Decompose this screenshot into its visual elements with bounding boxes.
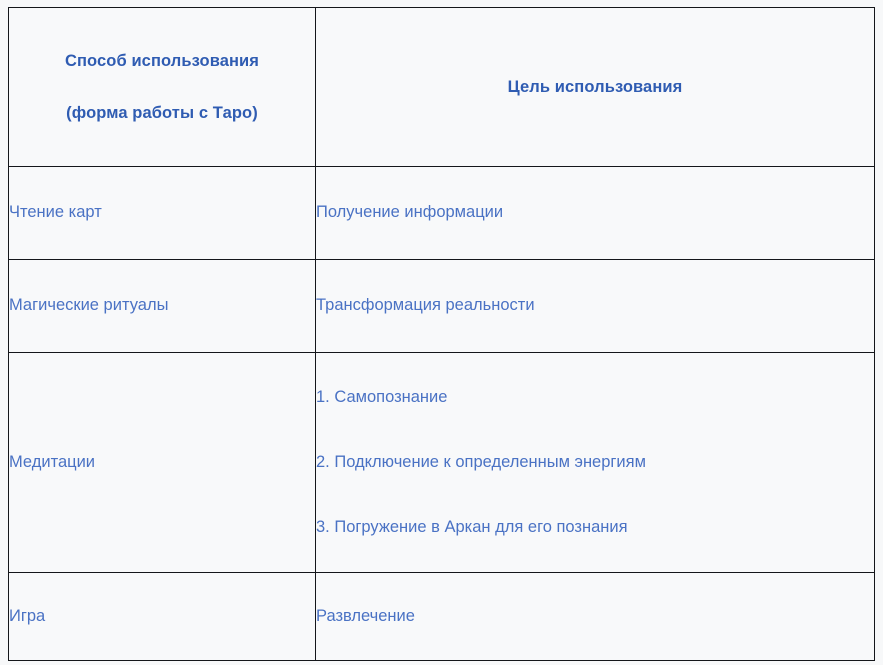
tarot-usage-table: Способ использования (форма работы с Тар…	[8, 7, 875, 661]
header-method-line-1: Способ использования	[27, 50, 297, 72]
cell-purpose: Развлечение	[316, 573, 875, 661]
cell-purpose: 1. Самопознание 2. Подключение к определ…	[316, 353, 875, 573]
method-label: Чтение карт	[9, 201, 315, 224]
table-row: Чтение карт Получение информации	[9, 167, 875, 260]
purpose-list-item: 2. Подключение к определенным энергиям	[316, 451, 874, 474]
header-purpose-inner: Цель использования	[316, 70, 874, 104]
header-cell-purpose: Цель использования	[316, 8, 875, 167]
header-cell-method: Способ использования (форма работы с Тар…	[9, 8, 316, 167]
cell-method: Магические ритуалы	[9, 260, 316, 353]
header-method-inner: Способ использования (форма работы с Тар…	[9, 44, 315, 130]
cell-method: Медитации	[9, 353, 316, 573]
cell-purpose: Получение информации	[316, 167, 875, 260]
cell-method: Игра	[9, 573, 316, 661]
header-purpose-line-1: Цель использования	[334, 76, 856, 98]
method-label: Магические ритуалы	[9, 294, 315, 317]
cell-method: Чтение карт	[9, 167, 316, 260]
header-method-line-2: (форма работы с Таро)	[27, 102, 297, 124]
table-container: Способ использования (форма работы с Тар…	[8, 7, 874, 654]
purpose-list-item: 1. Самопознание	[316, 386, 874, 409]
table-row: Медитации 1. Самопознание 2. Подключение…	[9, 353, 875, 573]
cell-purpose: Трансформация реальности	[316, 260, 875, 353]
purpose-label: Получение информации	[316, 201, 874, 224]
purpose-list-item: 3. Погружение в Аркан для его познания	[316, 516, 874, 539]
purpose-label: Трансформация реальности	[316, 294, 874, 317]
method-label: Игра	[9, 605, 315, 628]
method-label: Медитации	[9, 451, 315, 474]
table-header-row: Способ использования (форма работы с Тар…	[9, 8, 875, 167]
table-row: Игра Развлечение	[9, 573, 875, 661]
table-row: Магические ритуалы Трансформация реально…	[9, 260, 875, 353]
purpose-label: Развлечение	[316, 605, 874, 628]
